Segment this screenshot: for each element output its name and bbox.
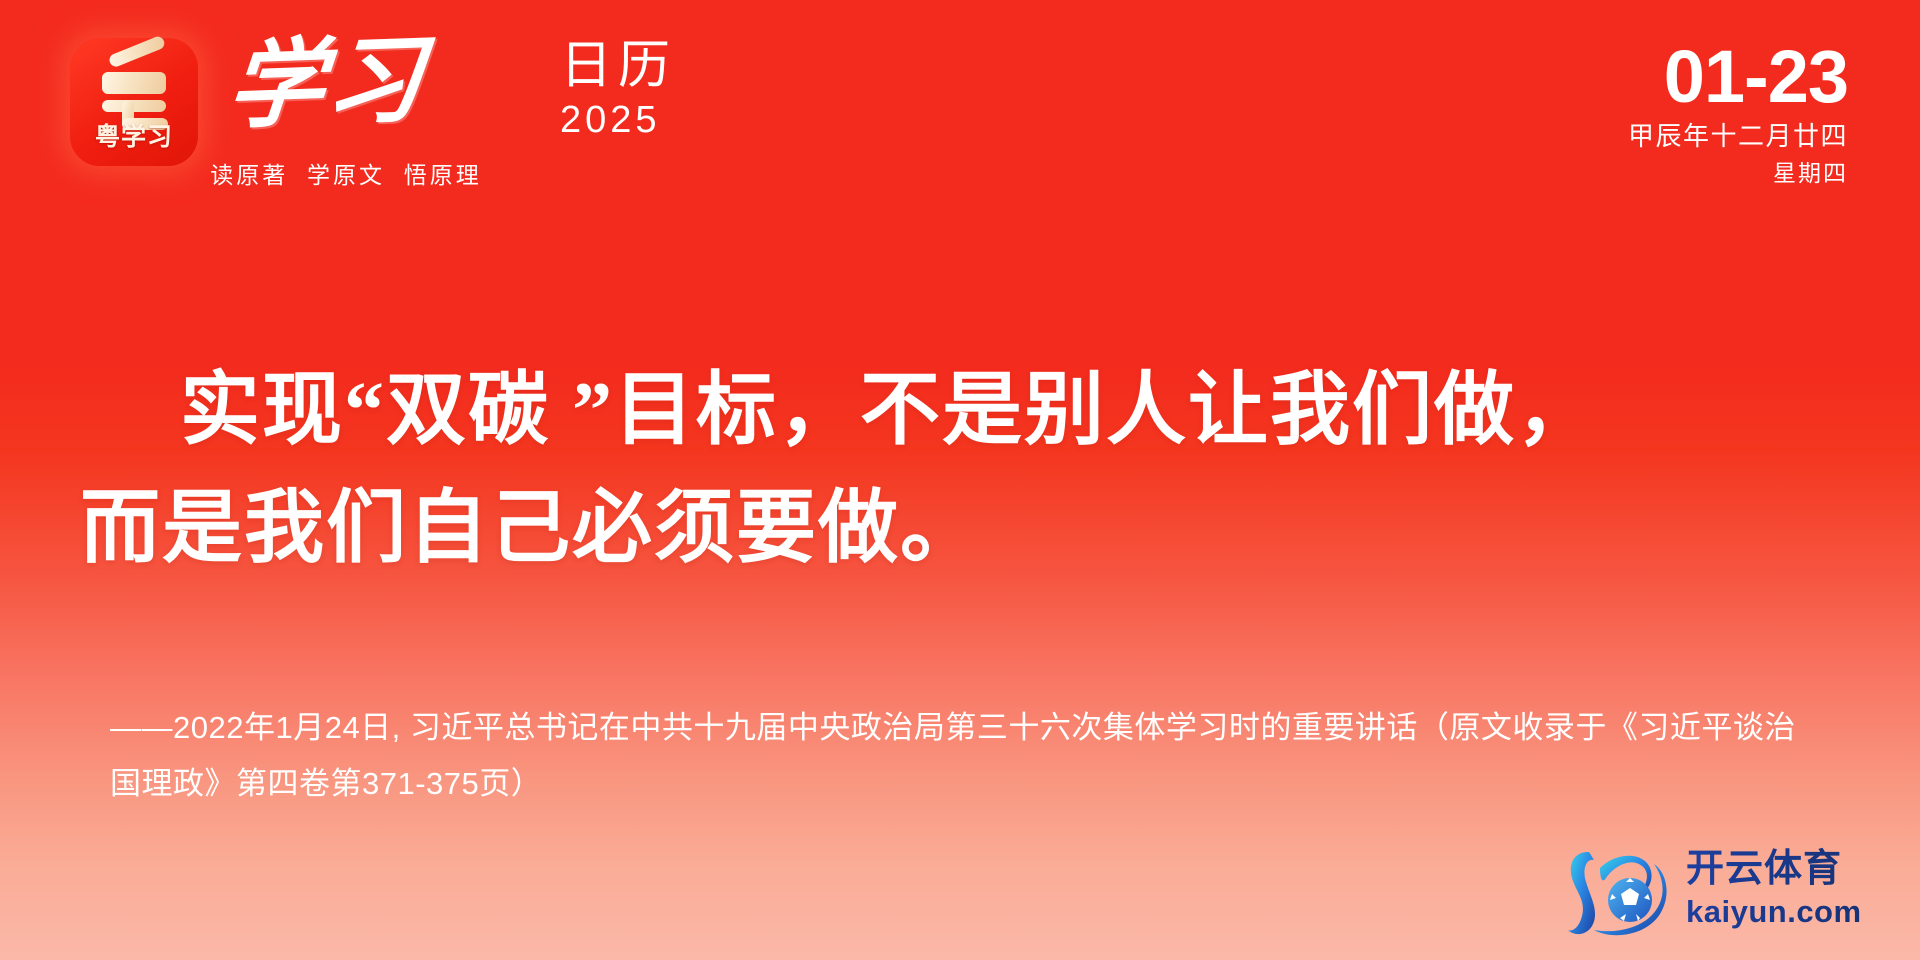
brand-slogan: 读原著 学原文 悟原理 [196, 156, 496, 190]
watermark: 开云体育 kaiyun.com [1560, 838, 1890, 948]
quote-text: 实现“双碳 ”目标，不是别人让我们做， 而是我们自己必须要做。 [0, 352, 1920, 588]
calendar-poster: 粤学习 学习 日历 2025 读原著 学原文 悟原理 01-23 甲辰年十二月廿… [0, 0, 1920, 960]
quote-line-2: 而是我们自己必须要做。 [80, 470, 1840, 588]
masthead: 学习 日历 2025 读原著 学原文 悟原理 [228, 34, 788, 194]
watermark-text: 开云体育 kaiyun.com [1686, 846, 1892, 932]
brand-subtitle-group: 日历 2025 [560, 38, 780, 142]
k-soccer-ball-icon [1560, 844, 1680, 940]
date-weekday: 星期四 [1628, 156, 1848, 190]
quote-line-1: 实现“双碳 ”目标，不是别人让我们做， [80, 352, 1840, 470]
watermark-brand: 开云体育 [1686, 846, 1892, 892]
poster-header: 粤学习 学习 日历 2025 读原著 学原文 悟原理 01-23 甲辰年十二月廿… [0, 0, 1920, 210]
app-icon-label: 粤学习 [70, 117, 198, 153]
brand-row: 学习 日历 2025 [228, 34, 788, 146]
brand-calligraphy-title: 学习 [223, 25, 430, 144]
watermark-url: kaiyun.com [1686, 892, 1892, 932]
date-block: 01-23 甲辰年十二月廿四 星期四 [1628, 38, 1848, 190]
quote-attribution: ——2022年1月24日, 习近平总书记在中共十九届中央政治局第三十六次集体学习… [110, 700, 1810, 812]
brand-year: 2025 [560, 98, 780, 142]
brand-calendar-word: 日历 [560, 38, 780, 96]
date-gregorian: 01-23 [1628, 38, 1848, 116]
app-icon-yuexuexi[interactable]: 粤学习 [70, 38, 198, 166]
date-lunar: 甲辰年十二月廿四 [1628, 116, 1848, 156]
